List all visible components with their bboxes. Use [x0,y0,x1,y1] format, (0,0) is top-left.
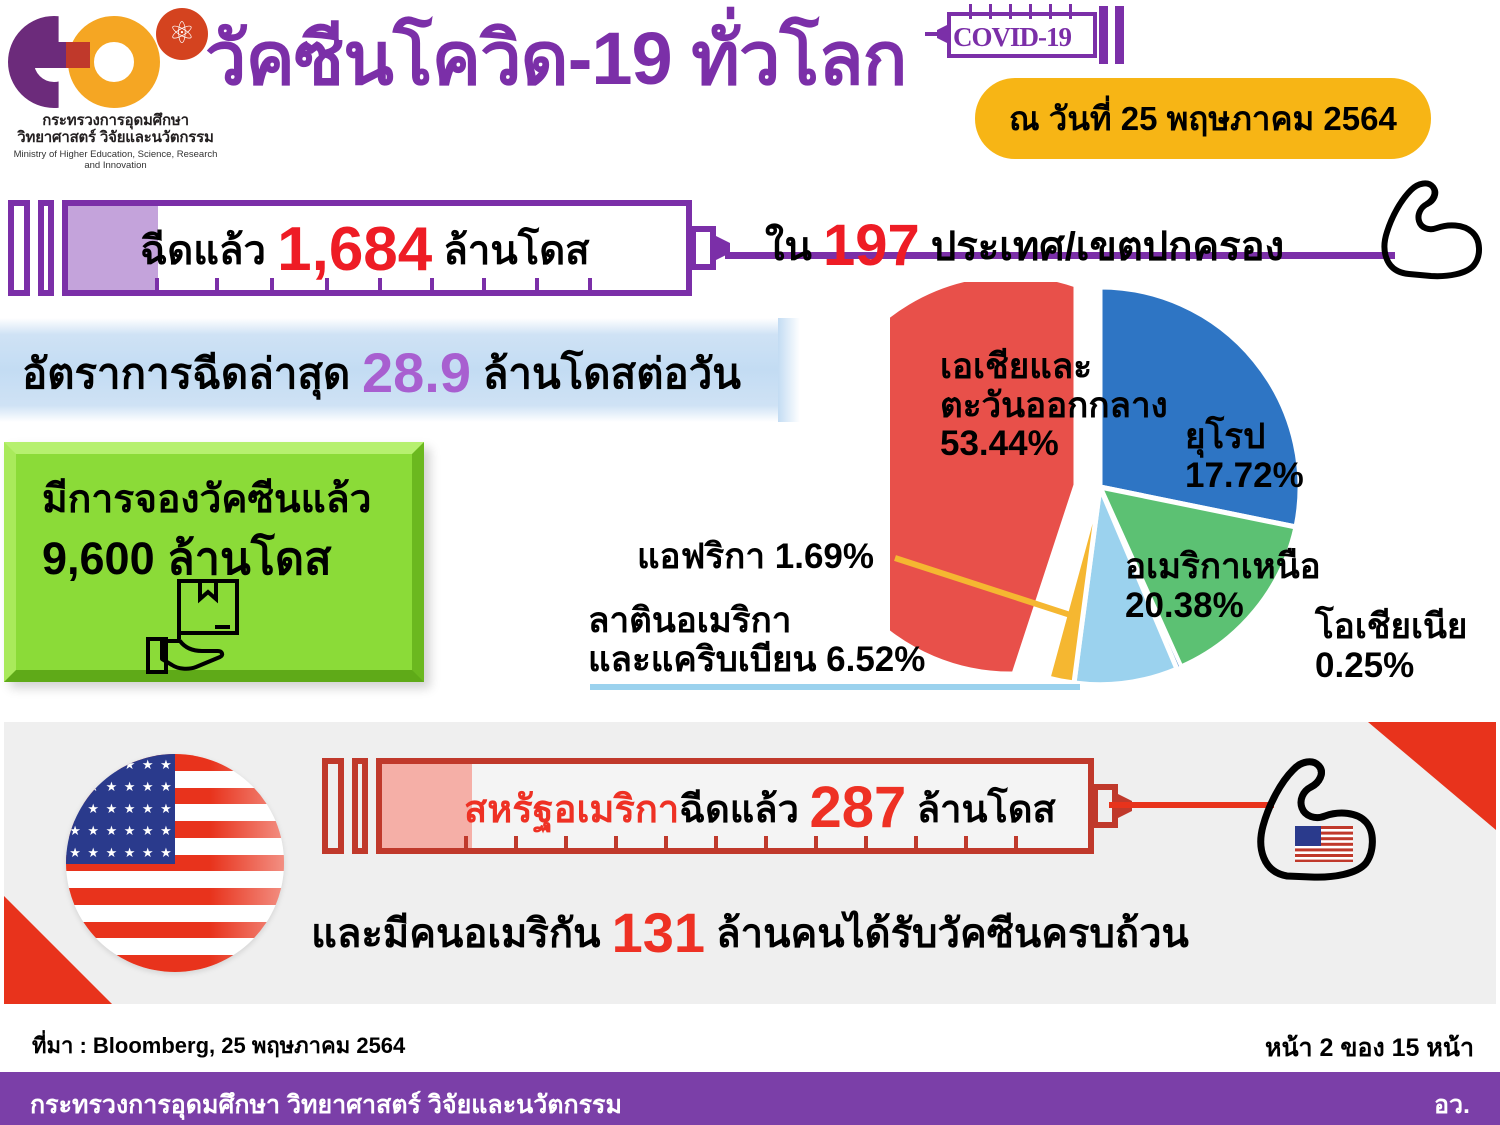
footer-ministry-name: กระทรวงการอุดมศึกษา วิทยาศาสตร์ วิจัยและ… [30,1085,622,1125]
pie-label-asia-line1: เอเชียและ [940,348,1168,387]
footer-abbreviation: อว. [1434,1085,1470,1125]
pie-label-europe-name: ยุโรป [1185,418,1304,457]
syringe-tick [969,4,972,19]
page-number: หน้า 2 ของ 15 หน้า [1265,1028,1474,1068]
rate-unit: ล้านโดสต่อวัน [483,350,741,397]
corner-triangle-top-right [1368,722,1496,830]
pie-label-africa-value: 1.69% [775,537,874,576]
leader-line-latin-america [590,684,1080,690]
doses-prefix: ฉีดแล้ว [140,229,266,273]
syringe-thumb-rest [8,200,30,296]
global-doses-text: ฉีดแล้ว 1,684 ล้านโดส [140,214,590,285]
pie-label-asia-line2: ตะวันออกกลาง [940,387,1168,426]
syringe-tick [1069,4,1072,19]
footer-bar: กระทรวงการอุดมศึกษา วิทยาศาสตร์ วิจัยและ… [0,1072,1500,1125]
date-badge: ณ วันที่ 25 พฤษภาคม 2564 [975,78,1431,159]
reserved-doses-box: มีการจองวัคซีนแล้ว 9,600 ล้านโดส [4,442,424,682]
syringe-thumb-rest [322,758,344,854]
page-title: วัคซีนโควิด-19 ทั่วโลก [205,22,906,96]
countries-text: ใน 197 ประเทศ/เขตปกครอง [765,212,1284,279]
pie-label-europe-value: 17.72% [1185,457,1304,496]
pie-label-latin-value: 6.52% [826,640,925,679]
pie-label-latin-line2: และแคริบเบียน 6.52% [588,641,925,680]
rate-value: 28.9 [362,341,471,404]
usa-country-name: สหรัฐอเมริกา [464,789,679,831]
usa-line2-suffix: ล้านคนได้รับวัคซีนครบถ้วน [716,912,1189,956]
pie-label-latin-america: ลาตินอเมริกา และแคริบเบียน 6.52% [588,602,925,679]
ministry-name-th-1: กระทรวงการอุดมศึกษา [8,113,223,130]
usa-fully-vaccinated-text: และมีคนอเมริกัน 131 ล้านคนได้รับวัคซีนคร… [4,900,1496,965]
pie-label-oceania-name: โอเชียเนีย [1315,608,1467,647]
countries-prefix: ใน [765,225,812,269]
logo-overlap [66,42,90,68]
pie-label-north-america: อเมริกาเหนือ 20.38% [1125,548,1321,625]
ministry-name-th-2: วิทยาศาสตร์ วิจัยและนวัตกรรม [8,130,223,147]
covid-syringe-icon: COVID-19 [925,4,1140,66]
ministry-logo: ⚛ กระทรวงการอุดมศึกษา วิทยาศาสตร์ วิจัยแ… [8,8,223,168]
reserved-unit: ล้านโดส [167,533,331,584]
pie-label-europe: ยุโรป 17.72% [1185,418,1304,495]
rate-prefix: อัตราการฉีดล่าสุด [22,350,350,397]
usa-line2-value: 131 [612,901,705,964]
flexed-arm-icon [1375,176,1485,281]
syringe-tick [1009,4,1012,19]
syringe-tick [1029,4,1032,19]
syringe-plunger [1099,6,1108,64]
pie-label-north-america-name: อเมริกาเหนือ [1125,548,1321,587]
global-doses-syringe: ฉีดแล้ว 1,684 ล้านโดส [0,196,745,300]
usa-line2-prefix: และมีคนอเมริกัน [311,912,600,956]
reserved-value: 9,600 [42,533,155,584]
usa-doses-syringe: สหรัฐอเมริกาฉีดแล้ว 287 ล้านโดส [314,754,1114,858]
pie-label-asia: เอเชียและ ตะวันออกกลาง 53.44% [940,348,1168,464]
flexed-arm-us-flag-icon [1249,750,1379,885]
syringe-tick [989,4,992,19]
hand-holding-box-icon [146,579,266,674]
atom-icon: ⚛ [156,8,208,60]
reserved-label: มีการจองวัคซีนแล้ว [42,468,372,530]
usa-doses-value: 287 [809,775,906,840]
us-flag-canton: ★★★★★★ ★★★★★★ ★★★★★★ ★★★★★★ ★★★★★★ [66,754,175,864]
source-text: ที่มา : Bloomberg, 25 พฤษภาคม 2564 [32,1028,405,1063]
doses-value: 1,684 [277,215,432,284]
pie-label-africa: แอฟริกา 1.69% [637,538,874,577]
usa-doses-unit: ล้านโดส [917,789,1056,831]
syringe-fill [382,764,472,848]
countries-value: 197 [823,213,920,278]
doses-unit: ล้านโดส [443,229,589,273]
syringe-plunger-rod [352,758,368,854]
pie-label-oceania-value: 0.25% [1315,647,1467,686]
syringe-thumb-rest [1115,6,1124,64]
pie-label-north-america-value: 20.38% [1125,587,1321,626]
pie-label-asia-value: 53.44% [940,425,1168,464]
pie-label-latin-line1: ลาตินอเมริกา [588,602,925,641]
covid-label: COVID-19 [953,22,1071,53]
pie-label-africa-name: แอฟริกา [637,537,765,576]
daily-rate-box: อัตราการฉีดล่าสุด 28.9 ล้านโดสต่อวัน [0,318,800,422]
daily-rate-text: อัตราการฉีดล่าสุด 28.9 ล้านโดสต่อวัน [22,340,741,407]
us-flag-patch [1295,826,1353,862]
ministry-name-en: Ministry of Higher Education, Science, R… [8,149,223,171]
countries-unit: ประเทศ/เขตปกครอง [931,225,1284,269]
syringe-tick [1049,4,1052,19]
logo-infinity-mark: ⚛ [8,8,198,113]
syringe-plunger-rod [38,200,54,296]
usa-doses-text: สหรัฐอเมริกาฉีดแล้ว 287 ล้านโดส [464,774,1056,841]
pie-label-latin-line2-text: และแคริบเบียน [588,640,816,679]
pie-label-oceania: โอเชียเนีย 0.25% [1315,608,1467,685]
usa-panel: ★★★★★★ ★★★★★★ ★★★★★★ ★★★★★★ ★★★★★★ สหรัฐ… [4,722,1496,1004]
usa-doses-prefix: ฉีดแล้ว [679,789,799,831]
